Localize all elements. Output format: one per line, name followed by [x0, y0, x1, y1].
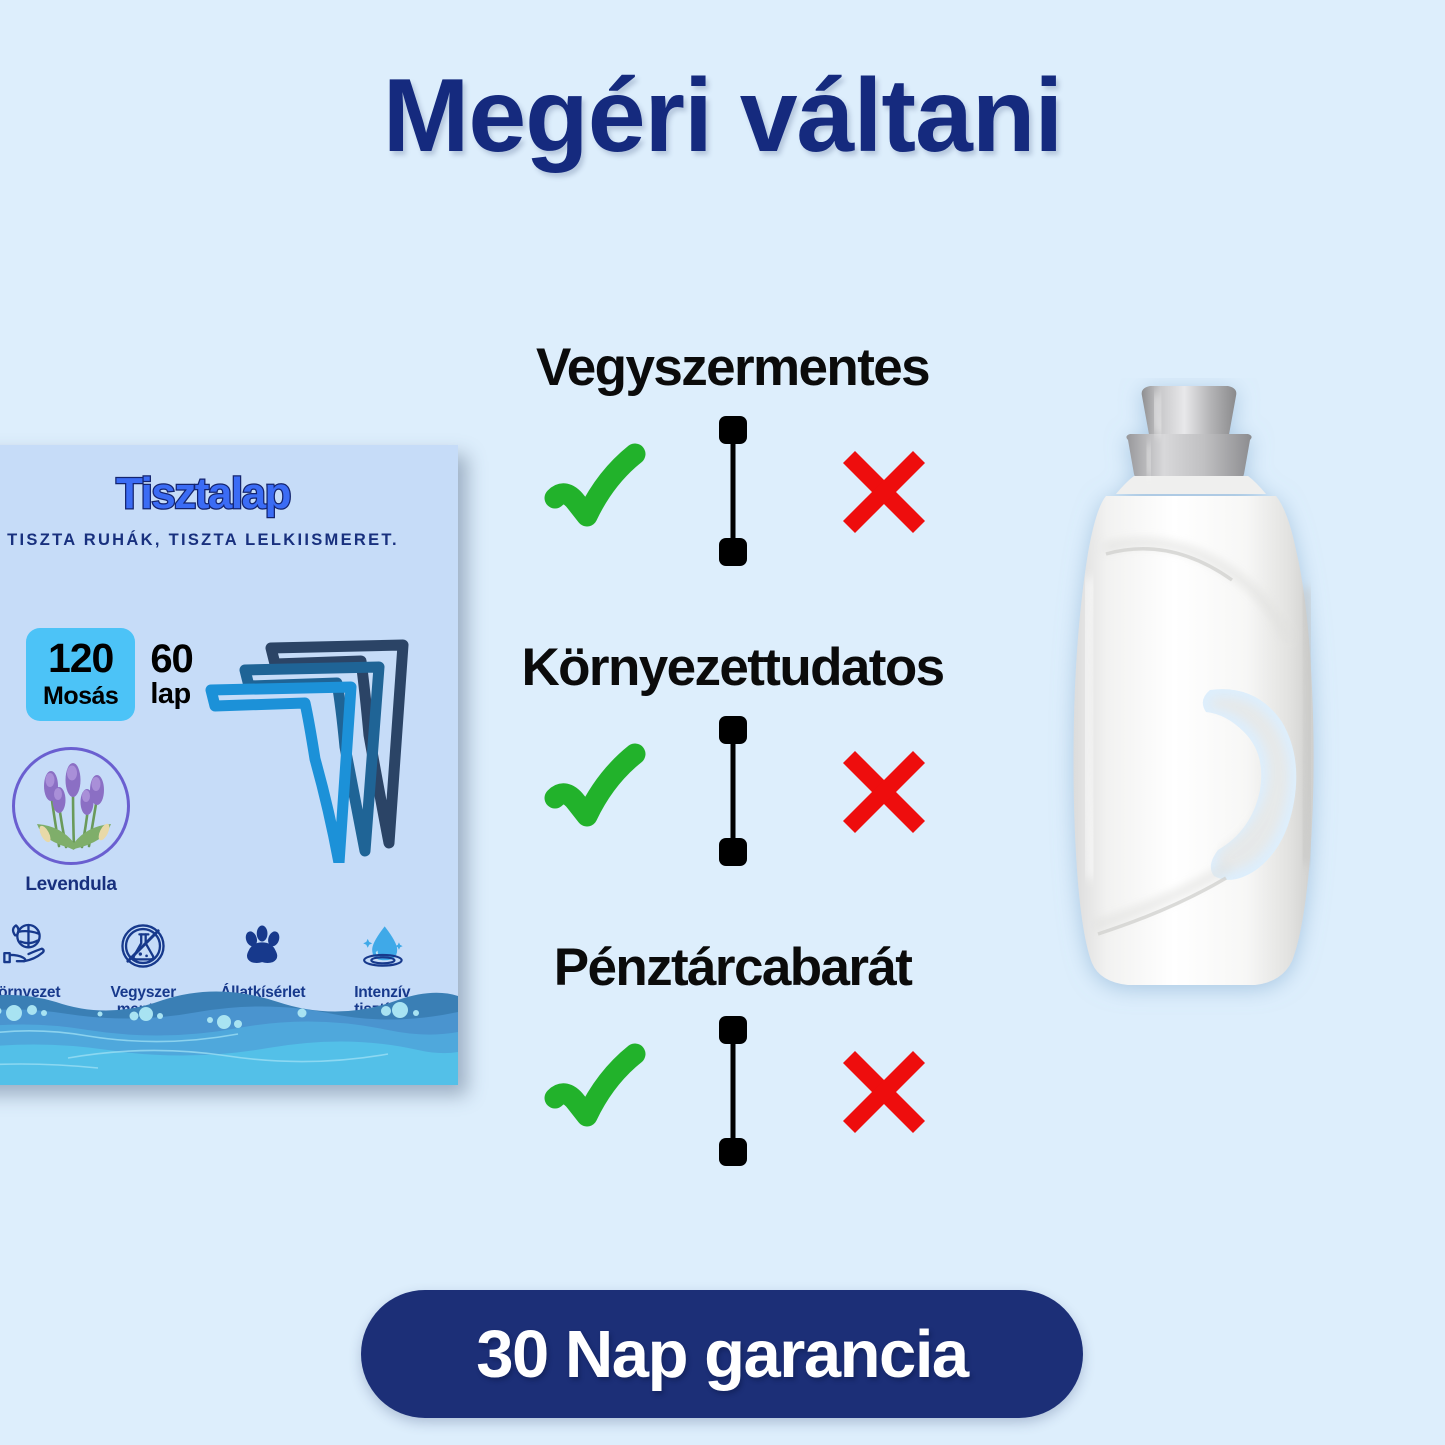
comparison-marks — [455, 998, 1010, 1183]
comparison-marks — [455, 398, 1010, 583]
capacity-info: 120 Mosás 60 lap — [26, 628, 193, 721]
scent-ring — [12, 747, 130, 865]
vertical-divider-icon — [716, 416, 750, 566]
sheets-info: 60 lap — [150, 639, 193, 709]
water-waves-icon — [0, 980, 458, 1085]
no-chemicals-icon — [87, 915, 199, 977]
comparison-row: Környezettudatos — [455, 637, 1010, 883]
washes-count: 120 — [43, 638, 118, 679]
promo-graphic: Megéri váltani Tisztalap TISZTA RUHÁK, T… — [0, 0, 1445, 1445]
page-title: Megéri váltani — [0, 58, 1445, 174]
scent-label: Levendula — [0, 874, 146, 896]
red-cross-icon — [836, 744, 932, 840]
comparison-title: Pénztárcabarát — [455, 937, 1010, 998]
sheets-label: lap — [150, 680, 193, 710]
guarantee-label: 30 Nap garancia — [476, 1316, 967, 1393]
vertical-divider-icon — [716, 1016, 750, 1166]
detergent-bottle-icon — [1020, 378, 1345, 1023]
green-check-icon — [543, 440, 653, 540]
washes-badge: 120 Mosás — [26, 628, 135, 721]
washes-label: Mosás — [43, 684, 118, 709]
red-cross-icon — [836, 1044, 932, 1140]
brand-tagline: TISZTA RUHÁK, TISZTA LELKIISMERET. — [0, 531, 458, 550]
paw-print-icon — [207, 915, 319, 977]
water-drop-icon — [326, 915, 438, 977]
comparison-row: Pénztárcabarát — [455, 937, 1010, 1183]
vertical-divider-icon — [716, 716, 750, 866]
green-check-icon — [543, 1040, 653, 1140]
comparison-title: Vegyszermentes — [455, 337, 1010, 398]
product-package: Tisztalap TISZTA RUHÁK, TISZTA LELKIISME… — [0, 445, 458, 1085]
lavender-icon — [15, 750, 130, 865]
comparison-row: Vegyszermentes — [455, 337, 1010, 583]
green-check-icon — [543, 740, 653, 840]
scent-badge: Levendula — [0, 747, 146, 896]
hand-holding-earth-icon — [0, 915, 80, 977]
sheets-count: 60 — [150, 639, 193, 680]
guarantee-badge[interactable]: 30 Nap garancia — [361, 1290, 1083, 1418]
red-cross-icon — [836, 444, 932, 540]
stacked-sheets-icon — [193, 613, 438, 863]
brand-logo: Tisztalap — [0, 469, 458, 519]
comparison-title: Környezettudatos — [455, 637, 1010, 698]
comparison-marks — [455, 698, 1010, 883]
